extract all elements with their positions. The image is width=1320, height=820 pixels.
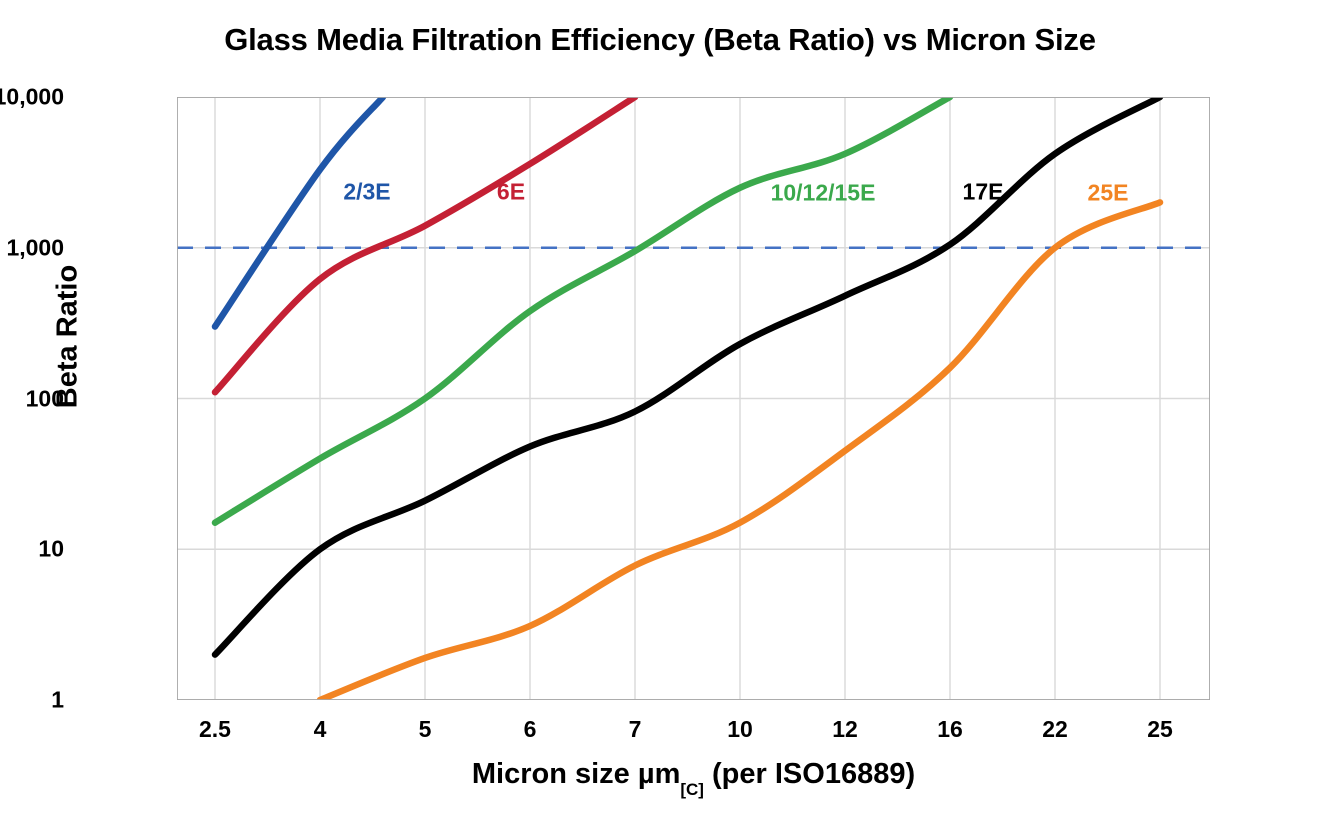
x-tick-label: 4 [275, 716, 365, 743]
x-tick-label: 25 [1115, 716, 1205, 743]
series-line-2-3E [215, 97, 383, 327]
series-label-17E: 17E [963, 179, 1004, 206]
x-axis-title-suffix: (per ISO16889) [704, 758, 915, 790]
gridlines [177, 97, 1210, 700]
x-tick-label: 16 [905, 716, 995, 743]
x-axis-title: Micron size µm[C] (per ISO16889) [177, 758, 1210, 795]
y-tick-label: 1,000 [0, 234, 64, 261]
x-tick-label: 6 [485, 716, 575, 743]
y-tick-label: 10 [0, 536, 64, 563]
x-tick-label: 10 [695, 716, 785, 743]
y-tick-label: 10,000 [0, 84, 64, 111]
y-tick-label: 1 [0, 687, 64, 714]
series-label-6E: 6E [497, 179, 525, 206]
series-label-2-3E: 2/3E [343, 179, 390, 206]
x-tick-label: 7 [590, 716, 680, 743]
x-tick-label: 12 [800, 716, 890, 743]
x-axis-title-subscript: [C] [680, 780, 704, 799]
x-tick-label: 22 [1010, 716, 1100, 743]
chart-plot-svg [177, 97, 1210, 700]
series-label-10-12-15E: 10/12/15E [771, 180, 876, 207]
x-tick-label: 5 [380, 716, 470, 743]
x-tick-label: 2.5 [170, 716, 260, 743]
series-label-25E: 25E [1088, 180, 1129, 207]
chart-container: Glass Media Filtration Efficiency (Beta … [0, 0, 1320, 820]
x-axis-title-main: Micron size µm [472, 758, 680, 790]
plot-area [177, 97, 1210, 700]
chart-title: Glass Media Filtration Efficiency (Beta … [0, 22, 1320, 58]
y-tick-label: 100 [0, 385, 64, 412]
